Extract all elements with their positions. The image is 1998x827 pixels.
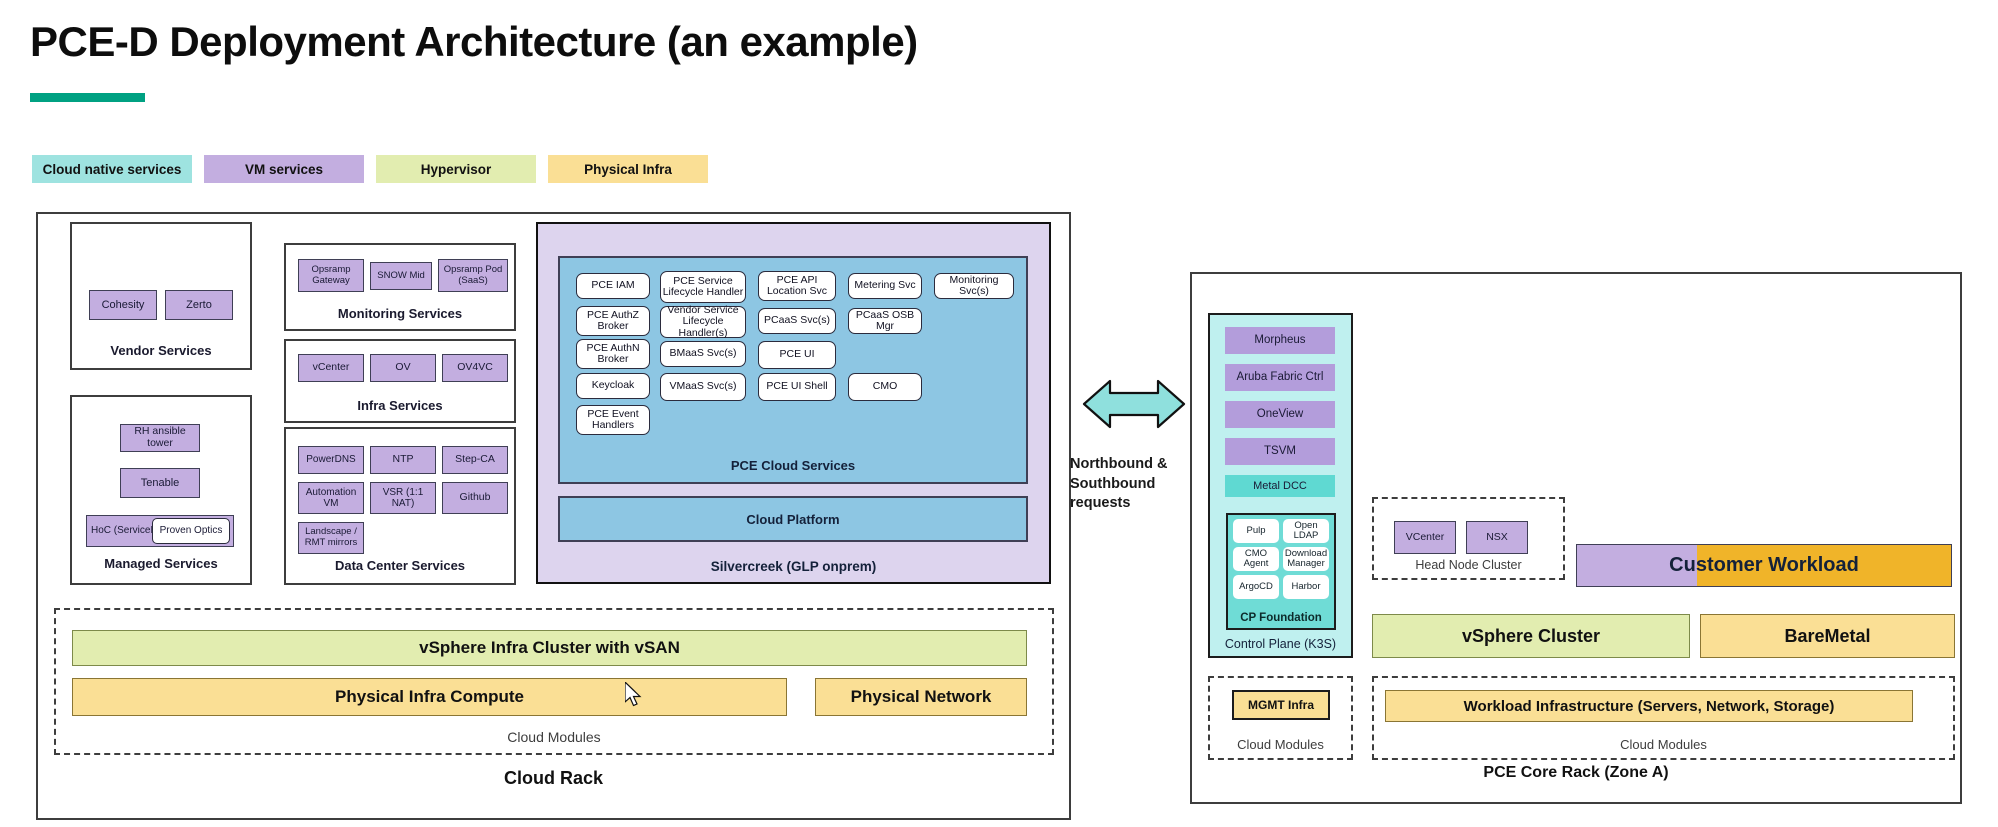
legend-label: Hypervisor <box>421 162 492 177</box>
workload-cloud-modules-label: Cloud Modules <box>1374 737 1953 752</box>
head-node-cluster-label: Head Node Cluster <box>1374 558 1563 572</box>
cp-foundation-label: CP Foundation <box>1228 612 1334 624</box>
node-open-ldap[interactable]: Open LDAP <box>1283 519 1329 543</box>
svc-monitoring[interactable]: Monitoring Svc(s) <box>934 273 1014 299</box>
svc-vendor-service-lifecycle-handlers[interactable]: Vendor Service Lifecycle Handler(s) <box>660 306 746 338</box>
node-landscape-rmt-mirrors[interactable]: Landscape / RMT mirrors <box>298 522 364 554</box>
node-vcenter[interactable]: vCenter <box>298 354 364 382</box>
node-step-ca[interactable]: Step-CA <box>442 446 508 474</box>
bar-mgmt-infra[interactable]: MGMT Infra <box>1232 690 1330 720</box>
svc-vmaas[interactable]: VMaaS Svc(s) <box>660 373 746 401</box>
node-opsramp-pod-saas[interactable]: Opsramp Pod (SaaS) <box>438 259 508 292</box>
node-zerto[interactable]: Zerto <box>165 290 233 320</box>
node-harbor[interactable]: Harbor <box>1283 575 1329 599</box>
node-tsvm[interactable]: TSVM <box>1225 438 1335 465</box>
legend: Cloud native services VM services Hyperv… <box>32 155 708 183</box>
diagram-canvas: PCE-D Deployment Architecture (an exampl… <box>0 0 1998 827</box>
node-automation-vm[interactable]: Automation VM <box>298 482 364 514</box>
bar-physical-infra-compute[interactable]: Physical Infra Compute <box>72 678 787 716</box>
vendor-services-label: Vendor Services <box>72 343 250 358</box>
svc-pcaas-osb-mgr[interactable]: PCaaS OSB Mgr <box>848 308 922 334</box>
svc-keycloak[interactable]: Keycloak <box>576 373 650 399</box>
node-snow-mid[interactable]: SNOW Mid <box>370 262 432 290</box>
legend-label: Cloud native services <box>43 162 182 177</box>
legend-item-cloud-native: Cloud native services <box>32 155 192 183</box>
infra-services-label: Infra Services <box>286 398 514 413</box>
node-aruba-fabric-ctrl[interactable]: Aruba Fabric Ctrl <box>1225 364 1335 391</box>
bar-baremetal[interactable]: BareMetal <box>1700 614 1955 658</box>
svc-pce-iam[interactable]: PCE IAM <box>576 273 650 299</box>
node-proven-optics[interactable]: Proven Optics <box>152 518 230 544</box>
mouse-cursor <box>625 682 645 715</box>
svc-pce-ui[interactable]: PCE UI <box>758 341 836 369</box>
node-argocd[interactable]: ArgoCD <box>1233 575 1279 599</box>
node-morpheus[interactable]: Morpheus <box>1225 327 1335 354</box>
node-opsramp-gateway[interactable]: Opsramp Gateway <box>298 259 364 292</box>
node-ov[interactable]: OV <box>370 354 436 382</box>
title-underline-rule <box>30 93 145 102</box>
node-cohesity[interactable]: Cohesity <box>89 290 157 320</box>
managed-services-label: Managed Services <box>72 556 250 571</box>
cloud-rack-outer-label: Cloud Rack <box>36 768 1071 789</box>
svc-pce-api-location[interactable]: PCE API Location Svc <box>758 271 836 301</box>
svc-pce-ui-shell[interactable]: PCE UI Shell <box>758 373 836 401</box>
bar-workload-infrastructure[interactable]: Workload Infrastructure (Servers, Networ… <box>1385 690 1913 722</box>
monitoring-services-label: Monitoring Services <box>286 306 514 321</box>
svc-pcaas[interactable]: PCaaS Svc(s) <box>758 308 836 334</box>
double-arrow-icon <box>1080 375 1188 438</box>
node-ntp[interactable]: NTP <box>370 446 436 474</box>
node-vcenter-head[interactable]: VCenter <box>1394 521 1456 554</box>
legend-item-vm-services: VM services <box>204 155 364 183</box>
svc-bmaas[interactable]: BMaaS Svc(s) <box>660 341 746 367</box>
bar-physical-network[interactable]: Physical Network <box>815 678 1027 716</box>
data-center-services-label: Data Center Services <box>286 558 514 573</box>
legend-item-physical-infra: Physical Infra <box>548 155 708 183</box>
svc-cmo[interactable]: CMO <box>848 373 922 401</box>
connector-caption: Northbound & Southbound requests <box>1070 455 1210 514</box>
node-github[interactable]: Github <box>442 482 508 514</box>
cloud-platform-panel: Cloud Platform <box>558 496 1028 542</box>
svc-metering[interactable]: Metering Svc <box>848 273 922 299</box>
node-ov4vc[interactable]: OV4VC <box>442 354 508 382</box>
silvercreek-label: Silvercreek (GLP onprem) <box>538 559 1049 574</box>
legend-item-hypervisor: Hypervisor <box>376 155 536 183</box>
cloud-rack-modules-label: Cloud Modules <box>56 729 1052 745</box>
svc-pce-authz-broker[interactable]: PCE AuthZ Broker <box>576 306 650 336</box>
node-download-manager[interactable]: Download Manager <box>1283 547 1329 571</box>
svc-pce-event-handlers[interactable]: PCE Event Handlers <box>576 405 650 435</box>
node-metal-dcc[interactable]: Metal DCC <box>1225 475 1335 497</box>
customer-workload-label: Customer Workload <box>1577 545 1951 586</box>
svc-pce-authn-broker[interactable]: PCE AuthN Broker <box>576 339 650 369</box>
bar-vsphere-cluster[interactable]: vSphere Cluster <box>1372 614 1690 658</box>
bar-vsphere-infra-cluster-vsan[interactable]: vSphere Infra Cluster with vSAN <box>72 630 1027 666</box>
svc-pce-service-lifecycle-handler[interactable]: PCE Service Lifecycle Handler <box>660 271 746 303</box>
node-vsr-nat[interactable]: VSR (1:1 NAT) <box>370 482 436 514</box>
node-nsx[interactable]: NSX <box>1466 521 1528 554</box>
node-pulp[interactable]: Pulp <box>1233 519 1279 543</box>
customer-workload-bar[interactable]: Customer Workload <box>1576 544 1952 587</box>
legend-label: Physical Infra <box>584 162 672 177</box>
legend-label: VM services <box>245 162 323 177</box>
mgmt-cloud-modules-label: Cloud Modules <box>1210 737 1351 752</box>
control-plane-label: Control Plane (K3S) <box>1210 637 1351 651</box>
page-title: PCE-D Deployment Architecture (an exampl… <box>30 18 918 66</box>
cloud-platform-label: Cloud Platform <box>746 512 839 527</box>
node-powerdns[interactable]: PowerDNS <box>298 446 364 474</box>
node-oneview[interactable]: OneView <box>1225 401 1335 428</box>
node-rh-ansible-tower[interactable]: RH ansible tower <box>120 424 200 452</box>
node-tenable[interactable]: Tenable <box>120 468 200 498</box>
node-cmo-agent[interactable]: CMO Agent <box>1233 547 1279 571</box>
pce-cloud-services-label: PCE Cloud Services <box>731 458 855 473</box>
pce-core-rack-outer-label: PCE Core Rack (Zone A) <box>1190 764 1962 782</box>
